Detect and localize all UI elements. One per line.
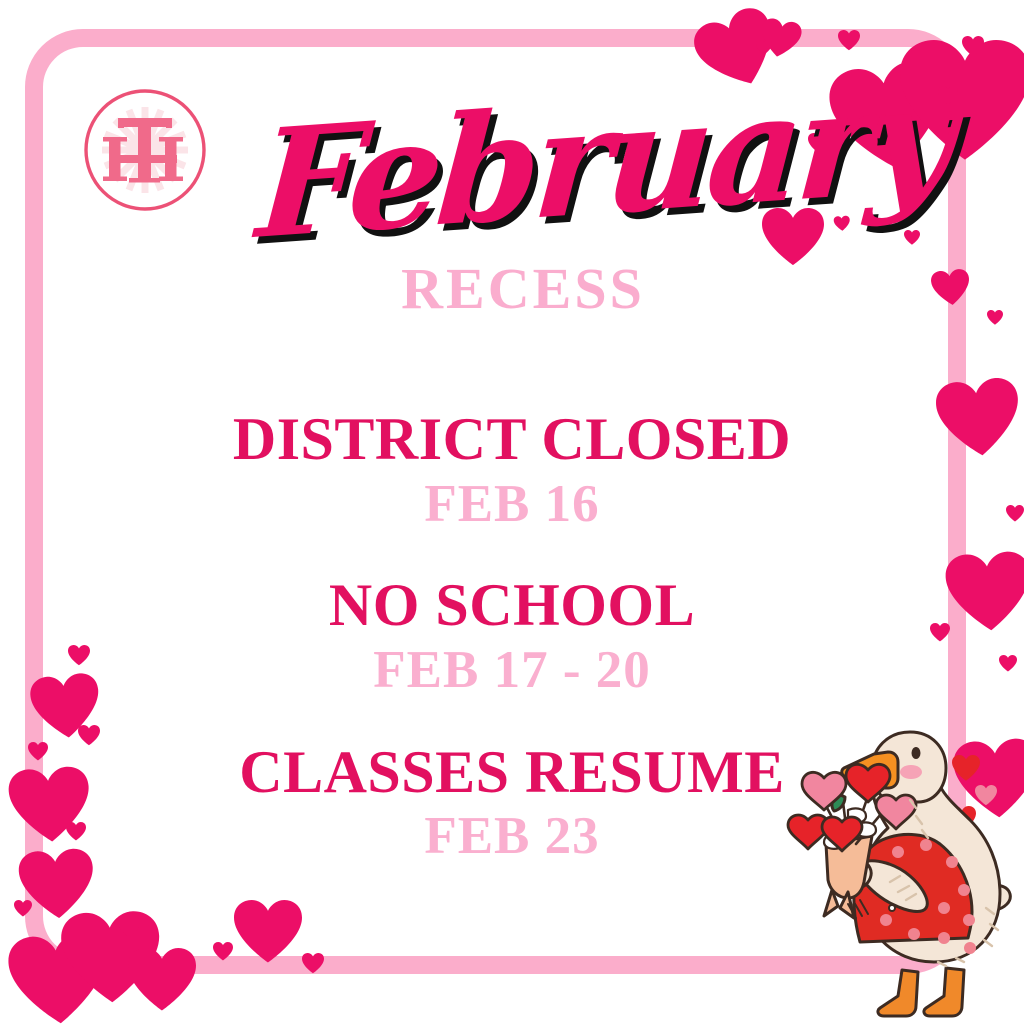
announcement-group: DISTRICT CLOSED FEB 16 [62, 408, 962, 536]
announcement-list: DISTRICT CLOSED FEB 16 NO SCHOOL FEB 17 … [62, 408, 962, 869]
heart-icon [999, 655, 1017, 672]
heart-icon [1006, 505, 1024, 522]
title-block: February RECESS [258, 92, 788, 342]
page-subtitle: RECESS [258, 260, 788, 318]
announcement-heading: CLASSES RESUME [62, 741, 962, 805]
announcement-heading: NO SCHOOL [62, 574, 962, 638]
goose-leg-left [878, 970, 918, 1016]
announcement-date: FEB 16 [62, 472, 962, 537]
announcement-group: NO SCHOOL FEB 17 - 20 [62, 574, 962, 702]
announcement-date: FEB 17 - 20 [62, 638, 962, 703]
page-title-script: February [253, 73, 792, 259]
goose-leg-right [924, 968, 964, 1016]
heart-icon [987, 310, 1003, 325]
district-monogram-logo [82, 87, 208, 213]
poster-canvas: February RECESS DISTRICT CLOSED FEB 16 N… [0, 0, 1024, 1024]
heart-icon [962, 36, 984, 56]
announcement-heading: DISTRICT CLOSED [62, 408, 962, 472]
logo-monogram-letters [103, 118, 183, 183]
announcement-date: FEB 23 [62, 804, 962, 869]
announcement-group: CLASSES RESUME FEB 23 [62, 741, 962, 869]
